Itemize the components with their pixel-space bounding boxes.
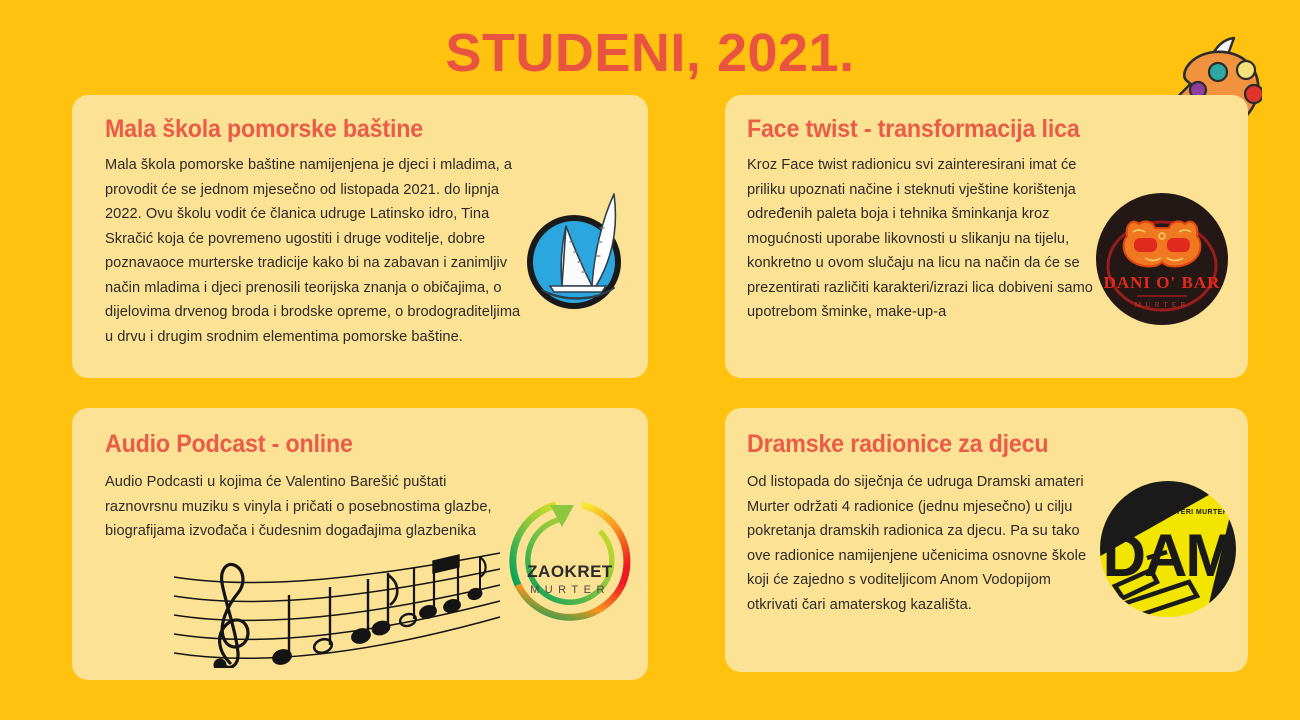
page-title: STUDENI, 2021.: [0, 26, 1300, 80]
card-title: Face twist - transformacija lica: [747, 115, 1080, 144]
card-title: Dramske radionice za djecu: [747, 430, 1048, 459]
card-dramske-radionice-za-djecu[interactable]: Dramske radionice za djecu Od listopada …: [725, 408, 1248, 672]
card-title: Audio Podcast - online: [105, 430, 353, 459]
card-body: Mala škola pomorske baštine namijenjena …: [105, 153, 525, 349]
poster-canvas: STUDENI, 2021. Mala škola pomorske bašti…: [0, 0, 1300, 720]
card-face-twist-transformacija-lica[interactable]: Face twist - transformacija lica Kroz Fa…: [725, 95, 1248, 378]
zaokret-murter-logo: ZAOKRET MURTER: [504, 493, 636, 633]
card-title: Mala škola pomorske baštine: [105, 115, 423, 144]
card-body: Audio Podcasti u kojima će Valentino Bar…: [105, 470, 505, 544]
card-mala-skola-pomorske-bastine[interactable]: Mala škola pomorske baštine Mala škola p…: [72, 95, 648, 378]
svg-text:ZAOKRET: ZAOKRET: [527, 562, 613, 581]
card-body: Od listopada do siječnja će udruga Drams…: [747, 470, 1087, 617]
svg-text:DAM: DAM: [1103, 522, 1234, 589]
latinsko-idro-sailboat-logo: [522, 190, 634, 320]
card-audio-podcast-online[interactable]: Audio Podcast - online Audio Podcasti u …: [72, 408, 648, 680]
dramski-amateri-murter-logo: DRAMSKI AMATERI MURTER DAM: [1097, 478, 1239, 620]
svg-text:MURTER: MURTER: [1135, 300, 1190, 309]
dani-o-bar-mask-logo: DANI O' BAR MURTER: [1093, 190, 1231, 328]
svg-text:MURTER: MURTER: [530, 584, 610, 596]
music-staff-icon: [172, 543, 502, 668]
svg-text:DRAMSKI AMATERI MURTER: DRAMSKI AMATERI MURTER: [1122, 509, 1228, 516]
svg-text:DANI O' BAR: DANI O' BAR: [1104, 273, 1221, 292]
card-body: Kroz Face twist radionicu svi zainteresi…: [747, 153, 1097, 325]
